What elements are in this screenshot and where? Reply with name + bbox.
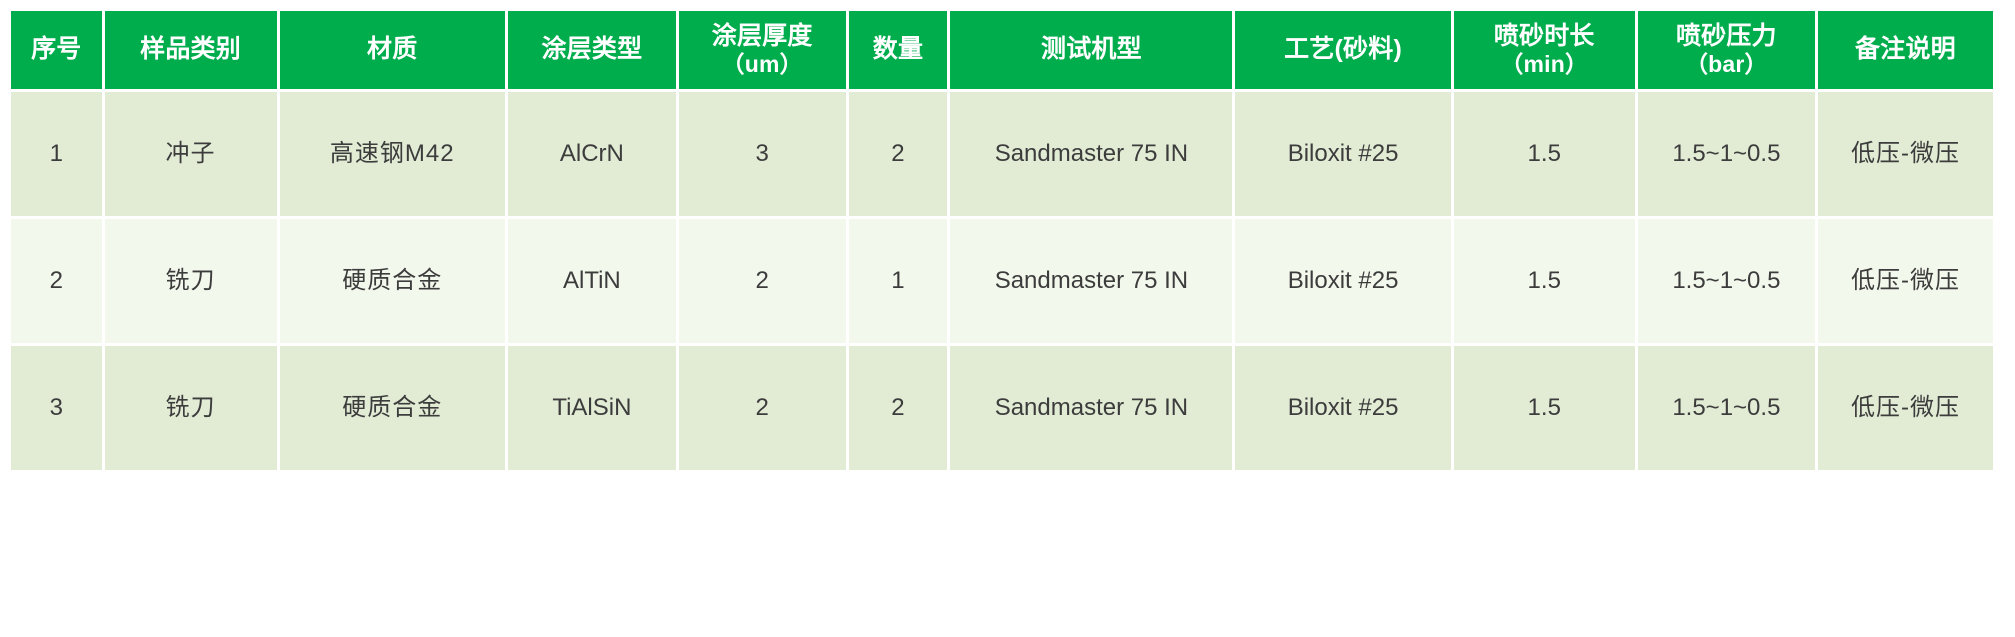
- cell-seq[interactable]: 3: [11, 346, 102, 470]
- cell-test-machine[interactable]: Sandmaster 75 IN: [950, 346, 1232, 470]
- cell-coating-thickness[interactable]: 3: [679, 92, 846, 216]
- cell-coating-thickness[interactable]: 2: [679, 346, 846, 470]
- cell-coating-type[interactable]: TiAlSiN: [508, 346, 676, 470]
- cell-seq[interactable]: 2: [11, 219, 102, 343]
- column-header-process-media-label: 工艺(砂料): [1235, 35, 1450, 65]
- cell-seq[interactable]: 1: [11, 92, 102, 216]
- column-header-seq[interactable]: 序号: [11, 11, 102, 89]
- left-gutter: [0, 0, 8, 637]
- cell-sample-type[interactable]: 铣刀: [105, 346, 277, 470]
- column-header-quantity-label: 数量: [849, 35, 948, 65]
- column-header-remark[interactable]: 备注说明: [1818, 11, 1993, 89]
- cell-blast-time[interactable]: 1.5: [1454, 92, 1635, 216]
- cell-sample-type[interactable]: 冲子: [105, 92, 277, 216]
- spreadsheet-canvas: 序号 样品类别 材质 涂层类型 涂层厚度 （um）: [0, 0, 2015, 637]
- table-row[interactable]: 1 冲子 高速钢M42 AlCrN 3 2 Sandmaster 75 IN B…: [11, 92, 1993, 216]
- table-row[interactable]: 3 铣刀 硬质合金 TiAlSiN 2 2 Sandmaster 75 IN B…: [11, 346, 1993, 470]
- cell-blast-time[interactable]: 1.5: [1454, 219, 1635, 343]
- cell-sample-type[interactable]: 铣刀: [105, 219, 277, 343]
- column-header-material[interactable]: 材质: [280, 11, 505, 89]
- cell-remark[interactable]: 低压-微压: [1818, 219, 1993, 343]
- data-table: 序号 样品类别 材质 涂层类型 涂层厚度 （um）: [8, 8, 1996, 473]
- cell-quantity[interactable]: 1: [849, 219, 948, 343]
- cell-remark[interactable]: 低压-微压: [1818, 346, 1993, 470]
- cell-material[interactable]: 硬质合金: [280, 219, 505, 343]
- column-header-sample-type-label: 样品类别: [105, 35, 277, 65]
- column-header-blast-time-unit: （min）: [1454, 51, 1635, 78]
- cell-blast-time[interactable]: 1.5: [1454, 346, 1635, 470]
- column-header-blast-time[interactable]: 喷砂时长 （min）: [1454, 11, 1635, 89]
- column-header-sample-type[interactable]: 样品类别: [105, 11, 277, 89]
- cell-test-machine[interactable]: Sandmaster 75 IN: [950, 219, 1232, 343]
- column-header-coating-thickness-unit: （um）: [679, 51, 846, 78]
- column-header-coating-thickness-label: 涂层厚度: [679, 22, 846, 52]
- cell-quantity[interactable]: 2: [849, 346, 948, 470]
- table-body: 1 冲子 高速钢M42 AlCrN 3 2 Sandmaster 75 IN B…: [11, 92, 1993, 470]
- cell-material[interactable]: 硬质合金: [280, 346, 505, 470]
- cell-coating-type[interactable]: AlTiN: [508, 219, 676, 343]
- column-header-test-machine-label: 测试机型: [950, 35, 1232, 65]
- column-header-seq-label: 序号: [11, 35, 102, 65]
- table-header: 序号 样品类别 材质 涂层类型 涂层厚度 （um）: [11, 11, 1993, 89]
- column-header-blast-pressure-unit: （bar）: [1638, 51, 1815, 78]
- cell-blast-pressure[interactable]: 1.5~1~0.5: [1638, 346, 1815, 470]
- column-header-coating-thickness[interactable]: 涂层厚度 （um）: [679, 11, 846, 89]
- cell-quantity[interactable]: 2: [849, 92, 948, 216]
- cell-coating-type[interactable]: AlCrN: [508, 92, 676, 216]
- cell-coating-thickness[interactable]: 2: [679, 219, 846, 343]
- header-row: 序号 样品类别 材质 涂层类型 涂层厚度 （um）: [11, 11, 1993, 89]
- cell-material[interactable]: 高速钢M42: [280, 92, 505, 216]
- cell-process-media[interactable]: Biloxit #25: [1235, 219, 1450, 343]
- column-header-process-media[interactable]: 工艺(砂料): [1235, 11, 1450, 89]
- table-row[interactable]: 2 铣刀 硬质合金 AlTiN 2 1 Sandmaster 75 IN Bil…: [11, 219, 1993, 343]
- column-header-material-label: 材质: [280, 35, 505, 65]
- column-header-coating-type[interactable]: 涂层类型: [508, 11, 676, 89]
- column-header-remark-label: 备注说明: [1818, 35, 1993, 65]
- cell-blast-pressure[interactable]: 1.5~1~0.5: [1638, 219, 1815, 343]
- cell-test-machine[interactable]: Sandmaster 75 IN: [950, 92, 1232, 216]
- cell-process-media[interactable]: Biloxit #25: [1235, 92, 1450, 216]
- cell-blast-pressure[interactable]: 1.5~1~0.5: [1638, 92, 1815, 216]
- column-header-coating-type-label: 涂层类型: [508, 35, 676, 65]
- column-header-quantity[interactable]: 数量: [849, 11, 948, 89]
- column-header-blast-time-label: 喷砂时长: [1454, 22, 1635, 52]
- cell-process-media[interactable]: Biloxit #25: [1235, 346, 1450, 470]
- column-header-blast-pressure-label: 喷砂压力: [1638, 22, 1815, 52]
- cell-remark[interactable]: 低压-微压: [1818, 92, 1993, 216]
- column-header-test-machine[interactable]: 测试机型: [950, 11, 1232, 89]
- column-header-blast-pressure[interactable]: 喷砂压力 （bar）: [1638, 11, 1815, 89]
